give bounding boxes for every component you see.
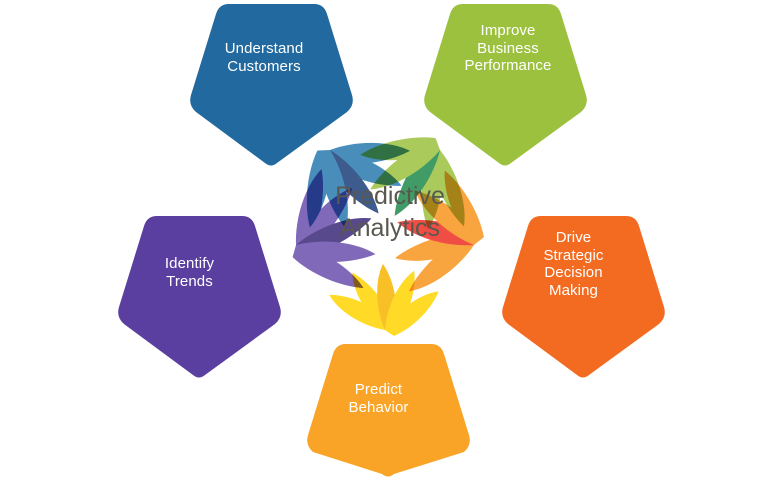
hit-improve-business-performance[interactable]	[422, 0, 590, 170]
hit-drive-strategic-decision-making[interactable]	[500, 212, 668, 382]
hit-understand-customers[interactable]	[188, 0, 356, 170]
predictive-analytics-diagram: Understand Customers Improve Business Pe…	[0, 0, 770, 480]
center-title: Predictive Analytics	[285, 180, 495, 244]
hit-identify-trends[interactable]	[116, 212, 284, 382]
hit-predict-behavior[interactable]	[305, 340, 473, 480]
